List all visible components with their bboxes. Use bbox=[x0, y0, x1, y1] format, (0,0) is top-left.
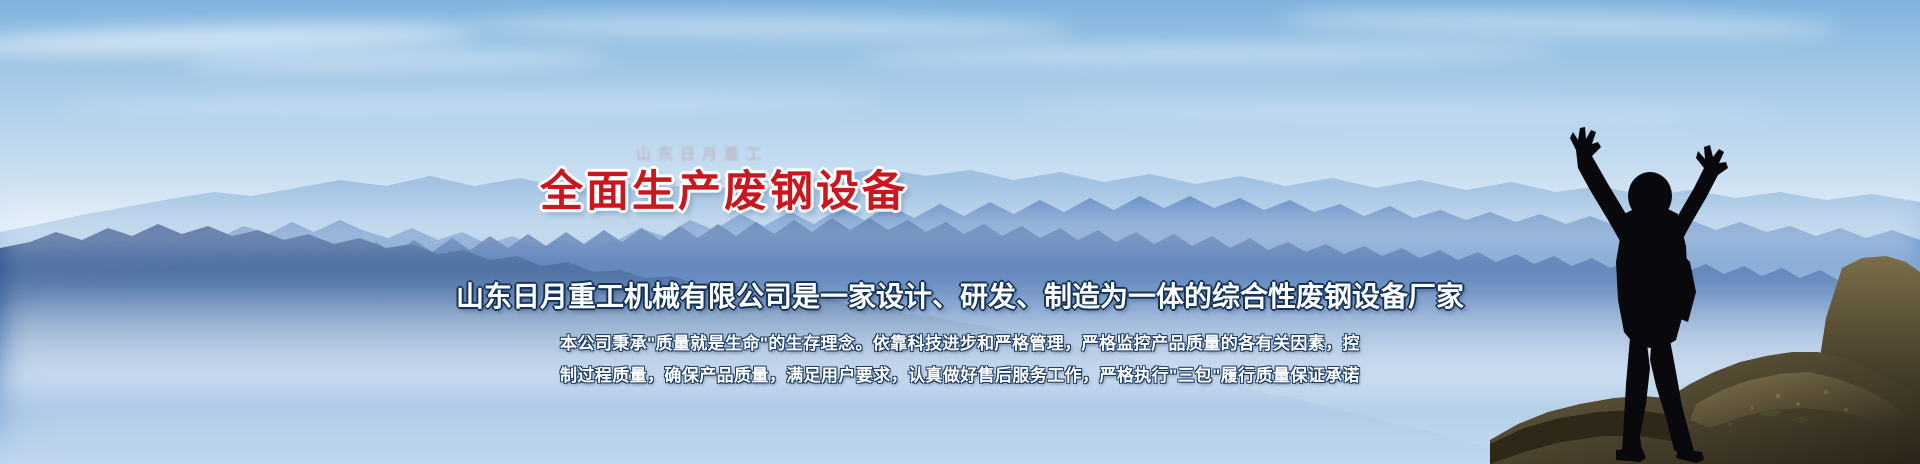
banner-body-line-2: 制过程质量，确保产品质量，满足用户要求，认真做好售后服务工作，严格执行"三包"履… bbox=[0, 361, 1920, 386]
banner-copy: 山东日月重工 全面生产废钢设备 山东日月重工机械有限公司是一家设计、研发、制造为… bbox=[0, 0, 1920, 464]
banner-subheadline: 山东日月重工机械有限公司是一家设计、研发、制造为一体的综合性废钢设备厂家 bbox=[0, 275, 1920, 315]
banner-headline: 全面生产废钢设备 bbox=[0, 157, 1448, 219]
banner-body-line-1: 本公司秉承"质量就是生命"的生存理念。依靠科技进步和严格管理，严格监控产品质量的… bbox=[0, 329, 1920, 354]
hero-banner: 山东日月重工 全面生产废钢设备 山东日月重工机械有限公司是一家设计、研发、制造为… bbox=[0, 0, 1920, 464]
